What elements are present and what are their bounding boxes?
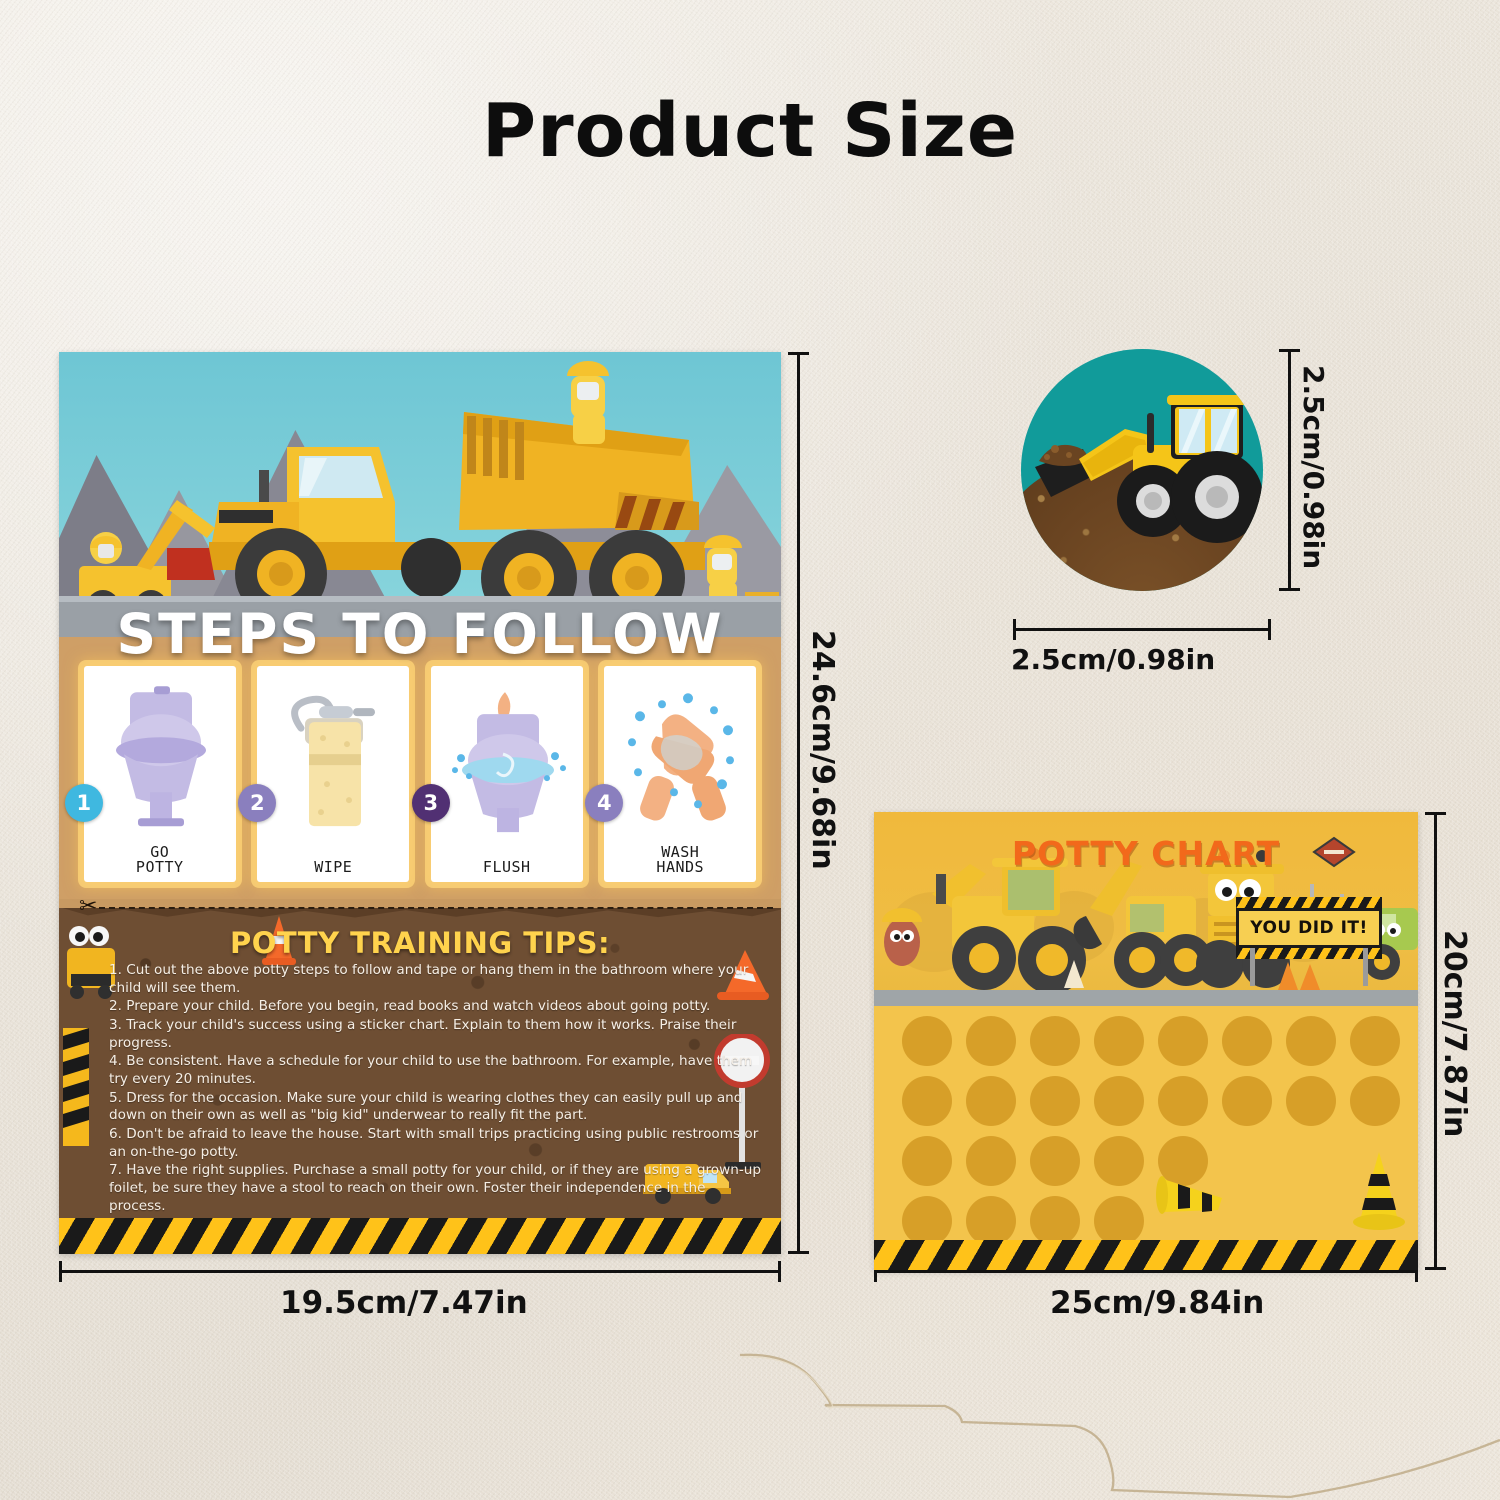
step-card-wash-hands[interactable]: 4 WASH HANDS bbox=[604, 666, 756, 882]
step-card-go-potty[interactable]: 1 GO POTTY bbox=[84, 666, 236, 882]
sticker-slot[interactable] bbox=[902, 1016, 952, 1066]
poster-width-label: 19.5cm/7.47in bbox=[280, 1285, 528, 1321]
sticker-slot[interactable] bbox=[1030, 1016, 1080, 1066]
step-badge-4: 4 bbox=[585, 784, 623, 822]
sticker-slot[interactable] bbox=[1222, 1016, 1272, 1066]
sticker-slot[interactable] bbox=[902, 1076, 952, 1126]
tip-item: 4. Be consistent. Have a schedule for yo… bbox=[109, 1053, 763, 1088]
chart-hazard-stripe bbox=[874, 1240, 1418, 1270]
sticker-height-label: 2.5cm/0.98in bbox=[1297, 365, 1330, 569]
poster-hero-illustration bbox=[59, 352, 781, 637]
toilet-icon bbox=[84, 666, 236, 845]
sticker-slot[interactable] bbox=[966, 1016, 1016, 1066]
round-sticker bbox=[1021, 349, 1263, 591]
poster-hazard-stripe bbox=[59, 1218, 781, 1254]
standing-cone-icon bbox=[1350, 1148, 1408, 1232]
sticker-slot[interactable] bbox=[966, 1136, 1016, 1186]
dump-truck-icon bbox=[59, 352, 781, 637]
tip-item: 2. Prepare your child. Before you begin,… bbox=[109, 998, 763, 1016]
sticker-slot[interactable] bbox=[1030, 1136, 1080, 1186]
step-label-1b: POTTY bbox=[136, 858, 184, 876]
poster-width-dimension-line bbox=[59, 1270, 781, 1273]
sticker-height-dimension-line bbox=[1288, 349, 1291, 591]
chart-height-label: 20cm/7.87in bbox=[1437, 930, 1472, 1137]
sticker-slot[interactable] bbox=[1158, 1076, 1208, 1126]
tips-section: POTTY TRAINING TIPS: 1. Cut out the abov… bbox=[59, 908, 781, 1218]
step-badge-1: 1 bbox=[65, 784, 103, 822]
steps-card-row: 1 GO POTTY 2 bbox=[59, 666, 781, 882]
sticker-slot[interactable] bbox=[902, 1136, 952, 1186]
step-card-flush[interactable]: 3 FLUSH bbox=[431, 666, 583, 882]
tips-list: 1. Cut out the above potty steps to foll… bbox=[109, 962, 763, 1218]
worker-icon bbox=[567, 361, 609, 444]
step-card-wipe[interactable]: 2 WIPE bbox=[257, 666, 409, 882]
step-badge-3: 3 bbox=[412, 784, 450, 822]
potty-steps-poster: STEPS TO FOLLOW 1 GO POTTY bbox=[59, 352, 781, 1254]
tip-item: 5. Dress for the occasion. Make sure you… bbox=[109, 1090, 763, 1125]
tip-item: 1. Cut out the above potty steps to foll… bbox=[109, 962, 763, 997]
sticker-slot[interactable] bbox=[902, 1196, 952, 1246]
step-label-2: WIPE bbox=[314, 858, 352, 876]
sticker-width-label: 2.5cm/0.98in bbox=[1011, 643, 1215, 676]
tips-heading: POTTY TRAINING TIPS: bbox=[59, 926, 781, 960]
tip-item: 3. Track your child's success using a st… bbox=[109, 1017, 763, 1052]
sticker-slot[interactable] bbox=[1094, 1016, 1144, 1066]
washing-hands-icon bbox=[604, 666, 756, 845]
scissors-icon: ✂ bbox=[79, 893, 97, 919]
sticker-slot[interactable] bbox=[1094, 1196, 1144, 1246]
sticker-slot[interactable] bbox=[1350, 1016, 1400, 1066]
you-did-it-label: YOU DID IT! bbox=[1236, 908, 1382, 948]
sticker-slot[interactable] bbox=[1350, 1076, 1400, 1126]
sticker-slot[interactable] bbox=[966, 1196, 1016, 1246]
sticker-slot[interactable] bbox=[1286, 1076, 1336, 1126]
sticker-slot[interactable] bbox=[1030, 1196, 1080, 1246]
you-did-it-sign: YOU DID IT! bbox=[1236, 908, 1382, 948]
sticker-width-dimension-line bbox=[1013, 628, 1271, 631]
tip-item: 7. Have the right supplies. Purchase a s… bbox=[109, 1162, 763, 1215]
poster-height-dimension-line bbox=[797, 352, 800, 1254]
sticker-circle-grid bbox=[874, 1006, 1418, 1238]
poster-height-label: 24.6cm/9.68in bbox=[805, 630, 840, 870]
cut-line: ✂ bbox=[59, 899, 781, 917]
sticker-slot[interactable] bbox=[1222, 1076, 1272, 1126]
sticker-slot[interactable] bbox=[1094, 1076, 1144, 1126]
flushing-toilet-icon bbox=[431, 666, 583, 860]
page-title: Product Size bbox=[0, 88, 1500, 174]
step-badge-2: 2 bbox=[238, 784, 276, 822]
steps-heading: STEPS TO FOLLOW bbox=[59, 602, 781, 666]
sticker-slot[interactable] bbox=[966, 1076, 1016, 1126]
sticker-slot[interactable] bbox=[1158, 1016, 1208, 1066]
step-label-4b: HANDS bbox=[656, 858, 704, 876]
sticker-slot[interactable] bbox=[1030, 1076, 1080, 1126]
chart-width-label: 25cm/9.84in bbox=[1050, 1285, 1264, 1321]
chart-road bbox=[874, 990, 1418, 1006]
toilet-paper-icon bbox=[257, 666, 409, 860]
barrier-icon bbox=[59, 1028, 93, 1148]
front-loader-icon bbox=[1021, 349, 1263, 591]
chart-width-dimension-line bbox=[874, 1270, 1418, 1273]
tip-item: 6. Don't be afraid to leave the house. S… bbox=[109, 1126, 763, 1161]
potty-chart-board: POTTY CHART bbox=[874, 812, 1418, 1270]
step-label-3: FLUSH bbox=[483, 858, 531, 876]
fallen-cone-icon bbox=[1156, 1172, 1228, 1218]
chart-title: POTTY CHART bbox=[874, 834, 1418, 873]
sticker-slot[interactable] bbox=[1094, 1136, 1144, 1186]
sticker-slot[interactable] bbox=[1286, 1016, 1336, 1066]
